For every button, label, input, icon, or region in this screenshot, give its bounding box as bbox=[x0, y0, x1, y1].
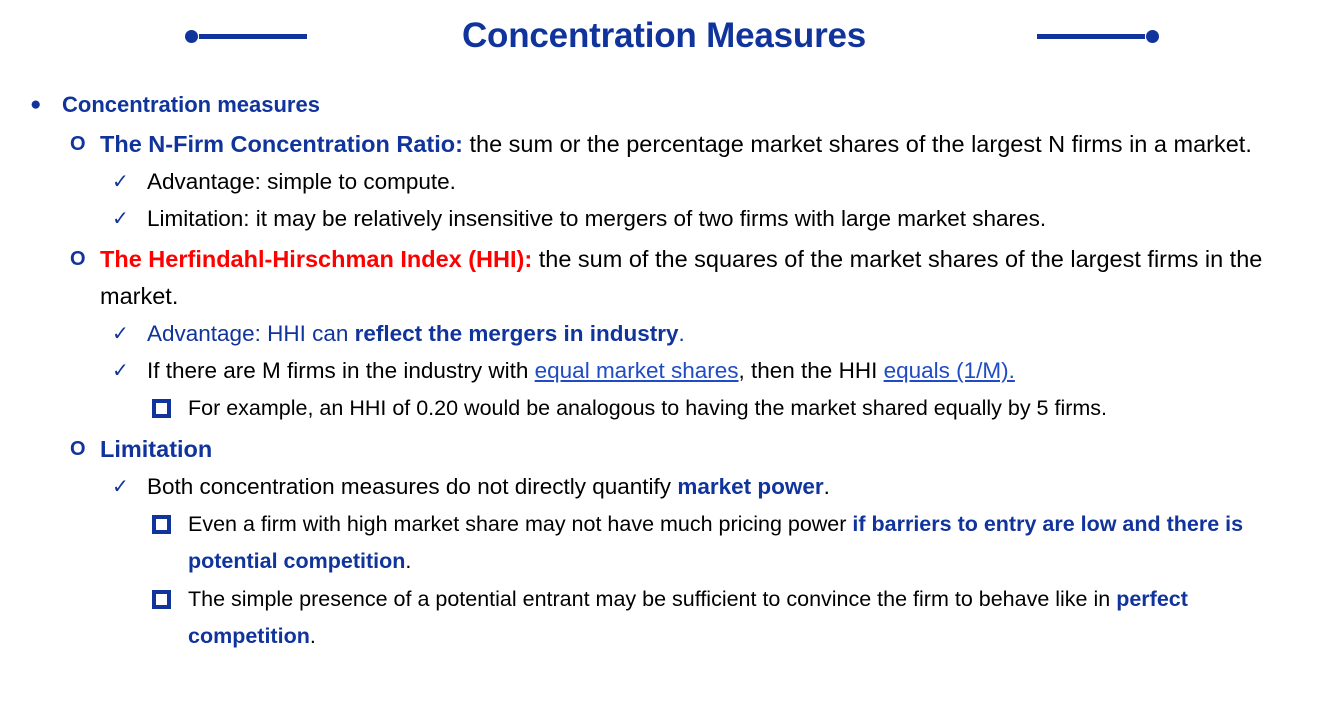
decoration-dot-icon bbox=[185, 30, 198, 43]
bullet-text: The simple presence of a potential entra… bbox=[188, 581, 1328, 655]
text-run: . bbox=[405, 549, 411, 573]
text-run[interactable]: equals (1/M). bbox=[884, 358, 1015, 383]
slide-title-bar: Concentration Measures bbox=[0, 0, 1328, 72]
bullet-text: Limitation bbox=[100, 431, 1328, 468]
title-decoration-right bbox=[1037, 33, 1159, 39]
bullet-text: The N-Firm Concentration Ratio: the sum … bbox=[100, 126, 1328, 163]
bullet-item-level2: O Limitation bbox=[0, 431, 1328, 468]
text-run: Concentration measures bbox=[62, 92, 320, 117]
text-run: Advantage: simple to compute. bbox=[147, 169, 456, 194]
bullet-text: Even a firm with high market share may n… bbox=[188, 506, 1328, 580]
bullet-item-level3: ✓ Advantage: simple to compute. bbox=[0, 164, 1328, 200]
bullet-text: If there are M firms in the industry wit… bbox=[147, 353, 1328, 389]
bullet-item-level3: ✓ Both concentration measures do not dir… bbox=[0, 469, 1328, 505]
text-run: Limitation: it may be relatively insensi… bbox=[147, 206, 1046, 231]
bullet-item-level4: For example, an HHI of 0.20 would be ana… bbox=[0, 390, 1328, 427]
check-bullet-icon: ✓ bbox=[112, 469, 147, 505]
disc-bullet-icon: ● bbox=[30, 88, 62, 122]
check-bullet-icon: ✓ bbox=[112, 164, 147, 200]
text-run: If there are M firms in the industry wit… bbox=[147, 358, 535, 383]
circle-bullet-icon: O bbox=[70, 241, 100, 278]
decoration-line-icon bbox=[199, 34, 307, 39]
slide-body: ● Concentration measures O The N-Firm Co… bbox=[0, 88, 1328, 655]
bullet-item-level3: ✓ If there are M firms in the industry w… bbox=[0, 353, 1328, 389]
page-title: Concentration Measures bbox=[462, 16, 866, 56]
text-run: Advantage: HHI can bbox=[147, 321, 355, 346]
text-run: . bbox=[310, 624, 316, 648]
check-bullet-icon: ✓ bbox=[112, 353, 147, 389]
check-bullet-icon: ✓ bbox=[112, 316, 147, 352]
text-run: , then the HHI bbox=[739, 358, 884, 383]
bullet-item-level3: ✓ Limitation: it may be relatively insen… bbox=[0, 201, 1328, 237]
square-bullet-icon bbox=[152, 581, 188, 618]
text-run: . bbox=[678, 321, 684, 346]
bullet-item-level2: O The N-Firm Concentration Ratio: the su… bbox=[0, 126, 1328, 163]
square-bullet-icon bbox=[152, 390, 188, 427]
bullet-text: Concentration measures bbox=[62, 88, 1328, 122]
decoration-line-icon bbox=[1037, 34, 1145, 39]
text-run: The simple presence of a potential entra… bbox=[188, 587, 1116, 611]
title-decoration-left bbox=[185, 33, 307, 39]
bullet-text: Advantage: HHI can reflect the mergers i… bbox=[147, 316, 1328, 352]
bullet-text: Limitation: it may be relatively insensi… bbox=[147, 201, 1328, 237]
text-run: Even a firm with high market share may n… bbox=[188, 512, 852, 536]
text-run: Both concentration measures do not direc… bbox=[147, 474, 677, 499]
text-run: The N-Firm Concentration Ratio: bbox=[100, 131, 463, 157]
text-run: the sum or the percentage market shares … bbox=[463, 131, 1252, 157]
circle-bullet-icon: O bbox=[70, 431, 100, 468]
bullet-item-level1: ● Concentration measures bbox=[0, 88, 1328, 122]
square-bullet-icon bbox=[152, 506, 188, 543]
bullet-item-level3: ✓ Advantage: HHI can reflect the mergers… bbox=[0, 316, 1328, 352]
text-run: Limitation bbox=[100, 436, 212, 462]
text-run: For example, an HHI of 0.20 would be ana… bbox=[188, 396, 1107, 420]
text-run: . bbox=[824, 474, 830, 499]
circle-bullet-icon: O bbox=[70, 126, 100, 163]
bullet-text: Advantage: simple to compute. bbox=[147, 164, 1328, 200]
bullet-item-level4: The simple presence of a potential entra… bbox=[0, 581, 1328, 655]
text-run: market power bbox=[677, 474, 823, 499]
text-run: The Herfindahl-Hirschman Index (HHI): bbox=[100, 246, 532, 272]
bullet-item-level2: O The Herfindahl-Hirschman Index (HHI): … bbox=[0, 241, 1328, 315]
text-run[interactable]: equal market shares bbox=[535, 358, 739, 383]
bullet-text: Both concentration measures do not direc… bbox=[147, 469, 1328, 505]
bullet-text: For example, an HHI of 0.20 would be ana… bbox=[188, 390, 1328, 427]
check-bullet-icon: ✓ bbox=[112, 201, 147, 237]
text-run: reflect the mergers in industry bbox=[355, 321, 679, 346]
bullet-text: The Herfindahl-Hirschman Index (HHI): th… bbox=[100, 241, 1328, 315]
decoration-dot-icon bbox=[1146, 30, 1159, 43]
bullet-item-level4: Even a firm with high market share may n… bbox=[0, 506, 1328, 580]
